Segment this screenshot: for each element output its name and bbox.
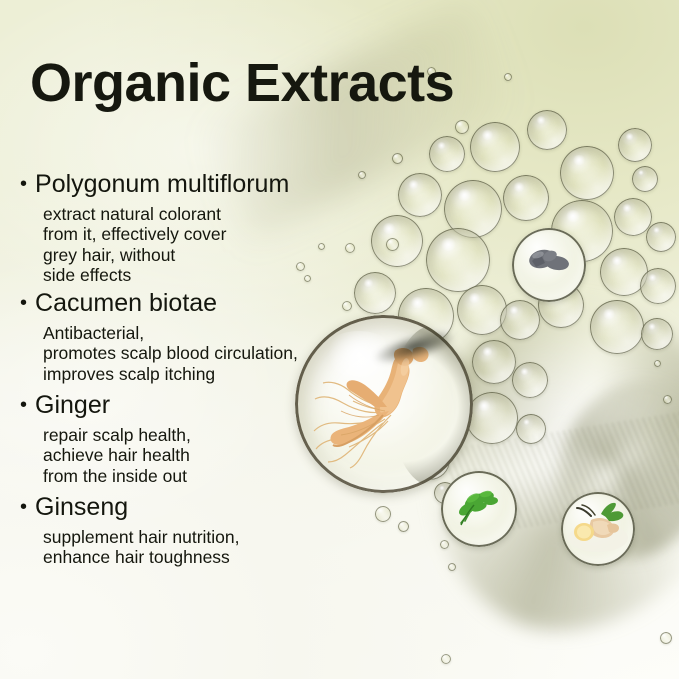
ingredient-heading: • Polygonum multiflorum [20,170,289,199]
ingredient-item-ginger: • Ginger repair scalp health, achieve ha… [20,391,191,486]
ingredient-heading: • Ginseng [20,493,240,522]
ingredient-name: Cacumen biotae [35,289,217,318]
ingredient-heading: • Cacumen biotae [20,289,298,318]
ingredient-heading: • Ginger [20,391,191,420]
bullet-icon: • [20,174,27,194]
ingredient-name: Ginseng [35,493,128,522]
ingredient-name: Polygonum multiflorum [35,170,289,199]
bullet-icon: • [20,395,27,415]
ingredient-description: repair scalp health, achieve hair health… [20,425,191,487]
poster-canvas: Organic Extracts • Polygonum multiflorum… [0,0,679,679]
ingredient-description: supplement hair nutrition, enhance hair … [20,527,240,568]
ingredient-name: Ginger [35,391,110,420]
ingredient-item-ginseng: • Ginseng supplement hair nutrition, enh… [20,493,240,568]
bullet-icon: • [20,293,27,313]
ingredient-item-cacumen-biotae: • Cacumen biotae Antibacterial, promotes… [20,289,298,384]
page-title: Organic Extracts [30,52,454,114]
ingredient-item-polygonum: • Polygonum multiflorum extract natural … [20,170,289,286]
text-content: Organic Extracts • Polygonum multiflorum… [0,0,679,679]
ingredient-description: Antibacterial, promotes scalp blood circ… [20,323,298,385]
ingredient-description: extract natural colorant from it, effect… [20,204,289,286]
bullet-icon: • [20,497,27,517]
